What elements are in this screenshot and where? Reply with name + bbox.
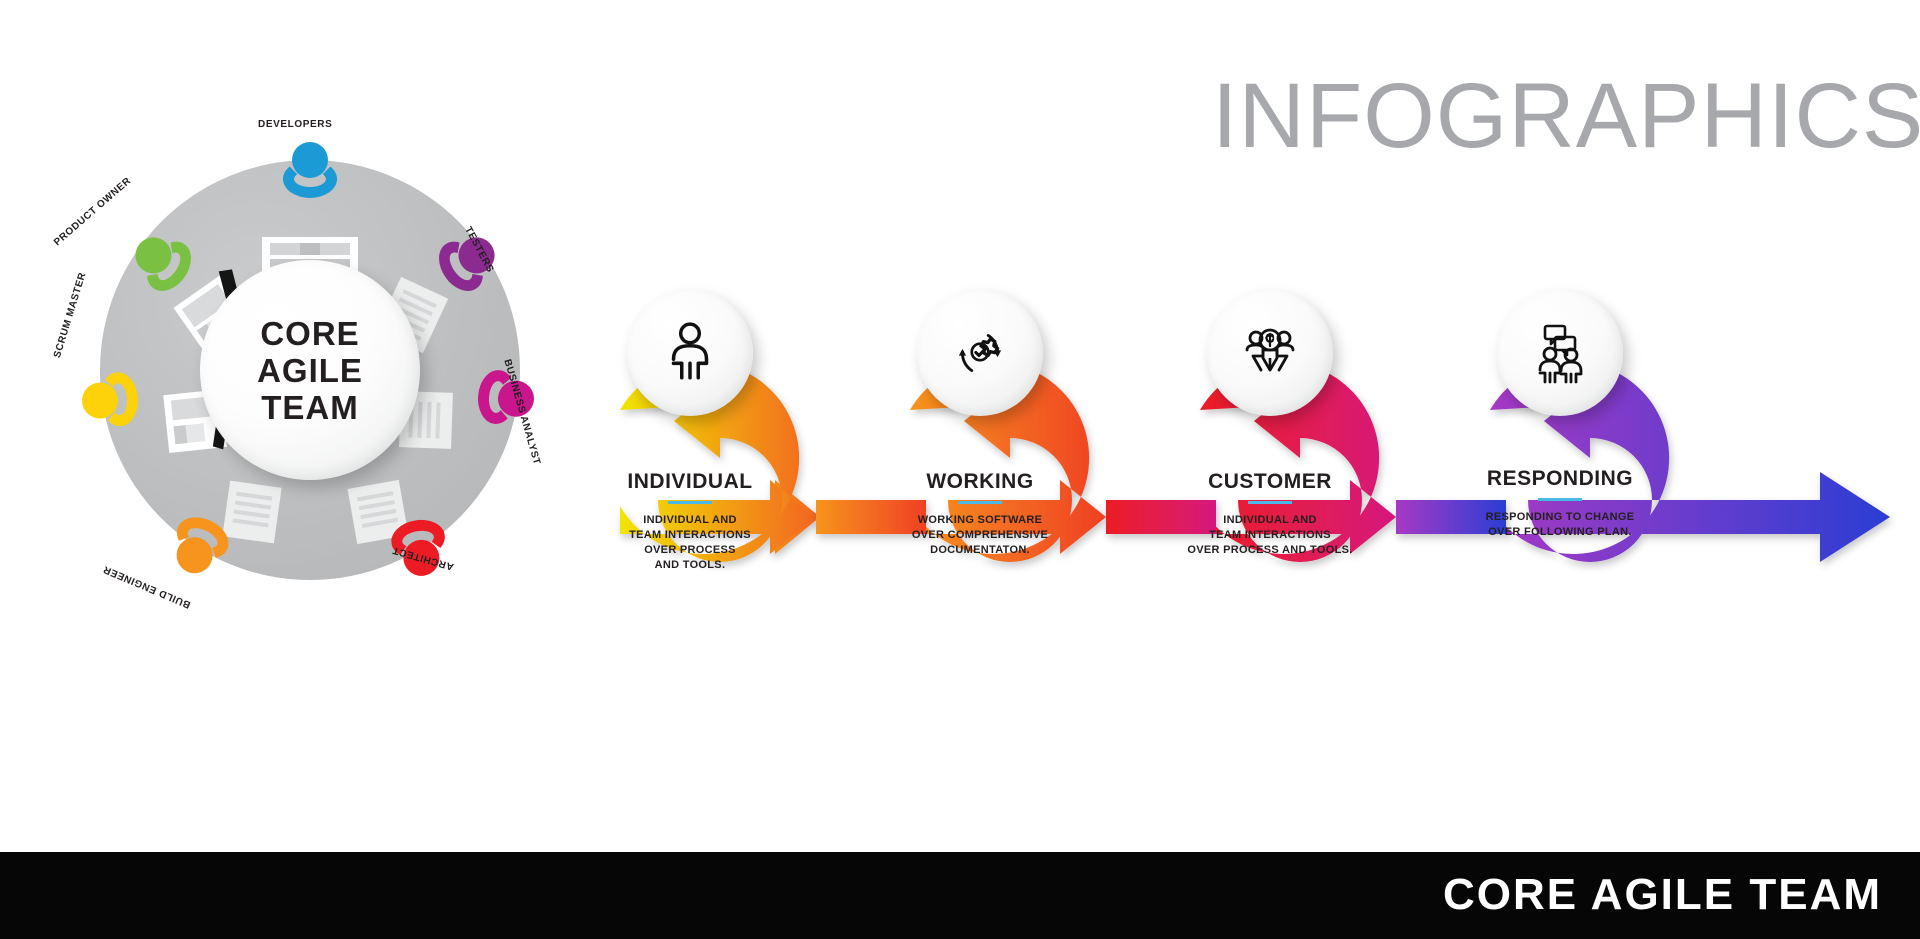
person-icon	[657, 320, 723, 386]
step-icon-circle-2[interactable]	[917, 290, 1043, 416]
role-marker-developers[interactable]	[280, 138, 340, 198]
page-title: INFOGRAPHICS	[1212, 70, 1920, 162]
wheel-center-line-1: CORE	[260, 315, 359, 352]
footer-title: CORE AGILE TEAM	[1443, 870, 1882, 920]
role-marker-scrum-master[interactable]	[76, 368, 140, 432]
process-arrow-chart: INDIVIDUAL INDIVIDUAL AND TEAM INTERACTI…	[520, 230, 1920, 650]
core-agile-team-wheel: DEVELOPERS TESTERS BUSINESS ANALYST ARCH…	[60, 120, 560, 640]
step-icon-circle-4[interactable]	[1497, 290, 1623, 416]
handshake-money-icon	[1235, 318, 1305, 388]
gear-check-cycle-icon	[947, 320, 1013, 386]
step-rule-3	[1248, 501, 1292, 504]
people-chat-icon	[1525, 318, 1595, 388]
role-label-developers: DEVELOPERS	[258, 119, 332, 130]
step-rule-2	[958, 501, 1002, 504]
wheel-center-label: CORE AGILE TEAM	[200, 260, 420, 480]
step-description-1: INDIVIDUAL AND TEAM INTERACTIONS OVER PR…	[570, 513, 810, 573]
step-caption-2: WORKING WORKING SOFTWARE OVER COMPREHENS…	[860, 470, 1100, 558]
step-title-2: WORKING	[860, 470, 1100, 494]
step-title-1: INDIVIDUAL	[570, 470, 810, 494]
scrum-master-arms-icon	[98, 371, 140, 428]
step-title-4: RESPONDING	[1440, 467, 1680, 491]
footer-bar: CORE AGILE TEAM	[0, 852, 1920, 939]
developers-arms-icon	[283, 160, 337, 198]
step-description-3: INDIVIDUAL AND TEAM INTERACTIONS OVER PR…	[1150, 513, 1390, 558]
process-arrow-graphics	[520, 230, 1920, 650]
step-caption-3: CUSTOMER INDIVIDUAL AND TEAM INTERACTION…	[1150, 470, 1390, 558]
step-description-4: RESPONDING TO CHANGE OVER FOLLOWING PLAN…	[1440, 510, 1680, 540]
step-title-3: CUSTOMER	[1150, 470, 1390, 494]
step-icon-circle-3[interactable]	[1207, 290, 1333, 416]
infographic-canvas: INFOGRAPHICS	[0, 0, 1920, 939]
step-rule-4	[1538, 498, 1582, 501]
wheel-center-line-3: TEAM	[261, 389, 359, 426]
step-caption-1: INDIVIDUAL INDIVIDUAL AND TEAM INTERACTI…	[570, 470, 810, 573]
step-rule-1	[668, 501, 712, 504]
step-description-2: WORKING SOFTWARE OVER COMPREHENSIVE DOCU…	[860, 513, 1100, 558]
step-caption-4: RESPONDING RESPONDING TO CHANGE OVER FOL…	[1440, 467, 1680, 540]
step-icon-circle-1[interactable]	[627, 290, 753, 416]
wheel-center-line-2: AGILE	[257, 352, 363, 389]
